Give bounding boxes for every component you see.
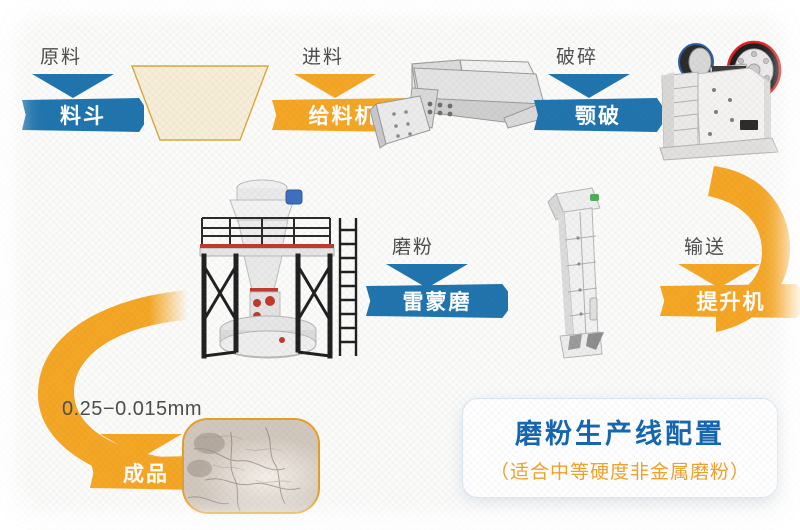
- caption-crushing: 破碎: [556, 42, 598, 69]
- page-subtitle: （适合中等硬度非金属磨粉）: [490, 457, 750, 484]
- chevron-down-icon-hopper: [32, 72, 114, 98]
- label-finished-product-text: 成品: [123, 458, 169, 488]
- product-size-text: 0.25−0.015mm: [62, 398, 202, 421]
- label-hopper-text: 料斗: [60, 100, 106, 130]
- machine-hopper: [128, 62, 272, 146]
- label-bucket-elevator[interactable]: 提升机: [660, 284, 800, 318]
- label-jaw-crusher[interactable]: 颚破: [534, 98, 662, 132]
- chevron-down-icon-crusher: [548, 72, 630, 98]
- chevron-down-icon-product: [100, 432, 182, 458]
- label-bucket-elevator-text: 提升机: [697, 286, 766, 316]
- chevron-down-icon-elevator: [678, 262, 760, 288]
- product-photo-texture: [184, 420, 318, 513]
- machine-feeder: [368, 52, 558, 164]
- caption-conveying: 输送: [684, 232, 726, 259]
- page-title: 磨粉生产线配置: [515, 412, 725, 451]
- label-raymond-mill[interactable]: 雷蒙磨: [366, 284, 508, 318]
- caption-feeding: 进料: [302, 42, 344, 69]
- product-photo: [182, 418, 320, 514]
- machine-jaw-crusher: [654, 28, 794, 162]
- flow-diagram-canvas: 原料 料斗 进料 给料机: [0, 0, 800, 530]
- chevron-down-icon-feeder: [294, 72, 376, 98]
- label-jaw-crusher-text: 颚破: [575, 100, 621, 130]
- label-hopper[interactable]: 料斗: [22, 98, 144, 132]
- label-raymond-mill-text: 雷蒙磨: [403, 286, 472, 316]
- chevron-down-icon-mill: [386, 262, 468, 288]
- caption-grinding: 磨粉: [392, 232, 434, 259]
- title-card: 磨粉生产线配置 （适合中等硬度非金属磨粉）: [462, 398, 778, 498]
- machine-bucket-elevator: [534, 186, 634, 360]
- caption-raw-material: 原料: [40, 42, 82, 69]
